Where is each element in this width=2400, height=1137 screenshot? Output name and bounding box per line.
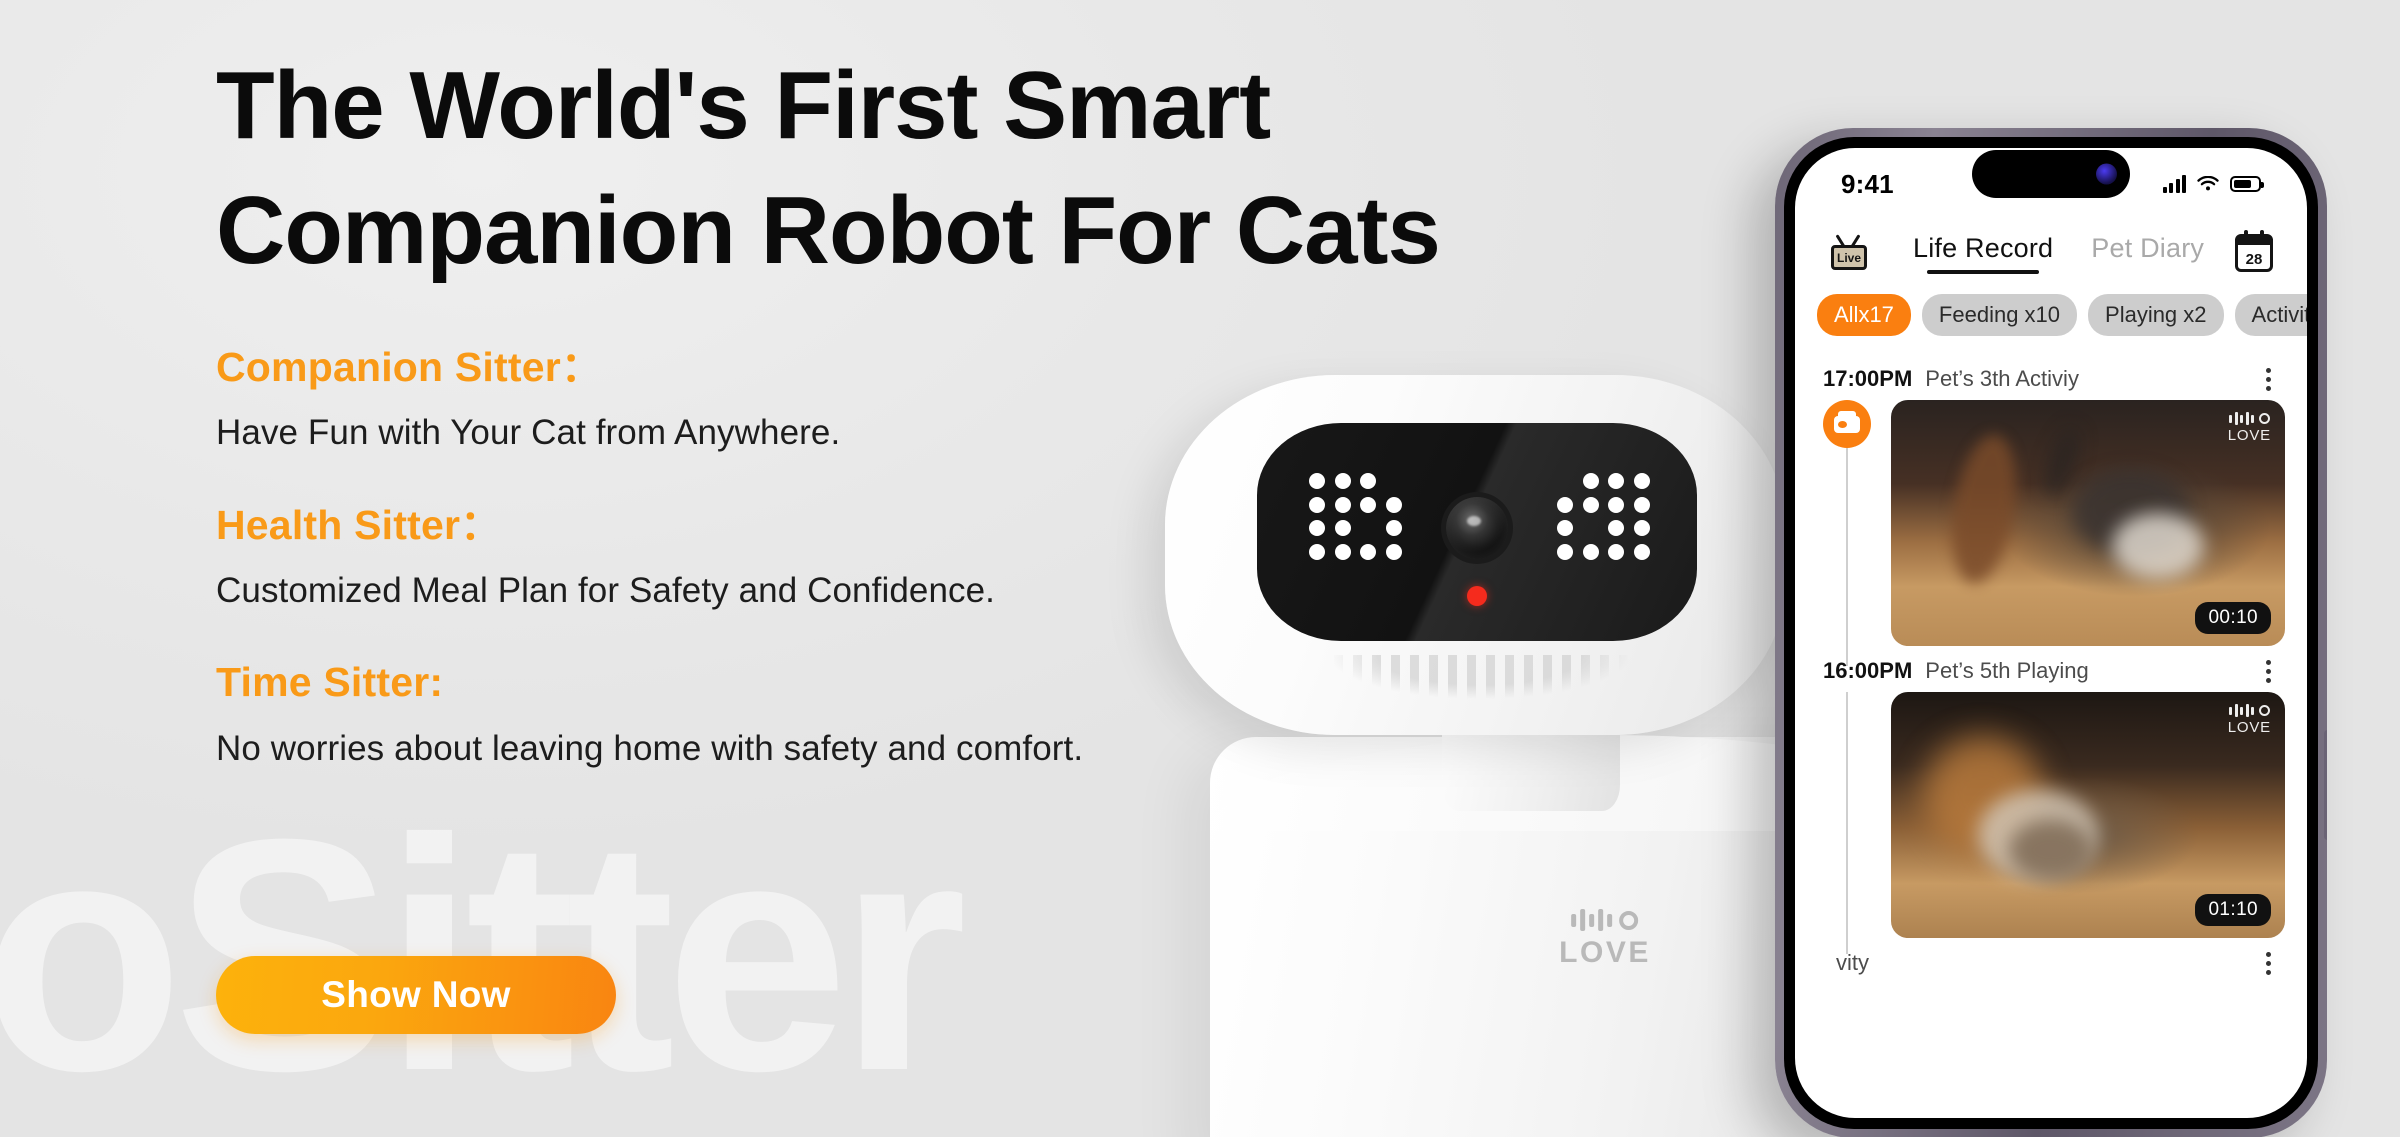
love-logo-text: LOVE [2228,427,2271,444]
love-logo-mark-icon [2228,704,2271,717]
dynamic-island [1972,150,2130,198]
video-duration-badge: 01:10 [2195,894,2271,926]
entry-title: vity [1836,950,1869,976]
app-nav-bar: Live Life Record Pet Diary 28 [1795,220,2307,282]
status-bar: 9:41 [1795,148,2307,220]
phone-bezel: 9:41 [1784,137,2318,1129]
status-bar-indicators [2163,175,2262,193]
robot-right-eye-icon [1557,473,1653,561]
robot-head [1165,375,1785,735]
entry-header: vity [1817,938,2285,984]
cellular-signal-icon [2163,175,2187,193]
list-item[interactable]: 17:00PM Pet’s 3th Activiy [1817,354,2285,646]
love-logo-text: LOVE [2228,719,2271,736]
filter-chip-all[interactable]: Allx17 [1817,294,1911,336]
robot-face-display [1257,423,1697,641]
filter-chip-playing[interactable]: Playing x2 [2088,294,2224,336]
list-item[interactable]: vity [1817,938,2285,984]
love-logo-mark-icon [2228,412,2271,425]
phone-screen: 9:41 [1795,148,2307,1118]
headline-line-1: The World's First Smart [216,52,1270,159]
hero-banner: oSitter The World's First Smart Companio… [0,0,2400,1137]
phone-power-button[interactable] [2324,730,2327,840]
entry-title: Pet’s 3th Activiy [1925,366,2079,392]
feeding-bowl-icon [1823,400,1871,448]
entry-body: LOVE 01:10 [1817,692,2285,938]
phone-mockup: 9:41 [1775,128,2327,1137]
live-tv-icon[interactable]: Live [1829,236,1869,270]
camera-lens-icon [1446,497,1508,559]
love-logo-text: LOVE [1559,936,1651,970]
wifi-icon [2197,176,2219,193]
robot-left-eye-icon [1309,473,1405,561]
page-title: The World's First Smart Companion Robot … [216,44,1466,294]
live-label: Live [1837,252,1861,264]
love-logo-mark-icon [1559,909,1651,931]
robot-brand-logo: LOVE [1559,909,1651,970]
timeline-rail [1823,692,1877,938]
tab-bar: Life Record Pet Diary [1913,233,2204,274]
battery-icon [2230,176,2261,192]
front-camera-icon [2096,164,2117,185]
entry-header: 16:00PM Pet’s 5th Playing [1817,646,2285,692]
show-now-button[interactable]: Show Now [216,956,616,1034]
video-thumbnail[interactable]: LOVE 00:10 [1891,400,2285,646]
tab-pet-diary[interactable]: Pet Diary [2091,233,2204,274]
headline-line-2: Companion Robot For Cats [216,177,1440,284]
activity-feed: 17:00PM Pet’s 3th Activiy [1795,354,2307,984]
filter-chip-feeding[interactable]: Feeding x10 [1922,294,2077,336]
list-item[interactable]: 16:00PM Pet’s 5th Playing [1817,646,2285,938]
entry-header: 17:00PM Pet’s 3th Activiy [1817,354,2285,400]
recording-indicator-icon [1467,586,1487,606]
entry-time: 16:00PM [1823,658,1912,684]
status-bar-time: 9:41 [1841,169,1894,200]
entry-body: LOVE 00:10 [1817,400,2285,646]
video-thumbnail[interactable]: LOVE 01:10 [1891,692,2285,938]
robot-speaker-grille [1315,655,1645,713]
more-options-icon[interactable] [2266,660,2279,683]
more-options-icon[interactable] [2266,952,2279,975]
calendar-day-label: 28 [2246,252,2263,267]
tab-label: Life Record [1913,233,2053,263]
video-duration-badge: 00:10 [2195,602,2271,634]
entry-time: 17:00PM [1823,366,1912,392]
filter-chip-activity[interactable]: Activity x5 [2235,294,2307,336]
calendar-icon[interactable]: 28 [2235,234,2273,272]
background-watermark: oSitter [0,790,957,1120]
entry-title: Pet’s 5th Playing [1925,658,2088,684]
video-watermark: LOVE [2228,704,2271,736]
timeline-line [1846,692,1848,954]
video-watermark: LOVE [2228,412,2271,444]
tv-screen-icon: Live [1831,245,1867,270]
more-options-icon[interactable] [2266,368,2279,391]
timeline-line [1846,448,1848,666]
filter-chip-row: Allx17 Feeding x10 Playing x2 Activity x… [1795,282,2307,336]
tab-label: Pet Diary [2091,233,2204,263]
timeline-rail [1823,400,1877,646]
tab-life-record[interactable]: Life Record [1913,233,2053,274]
